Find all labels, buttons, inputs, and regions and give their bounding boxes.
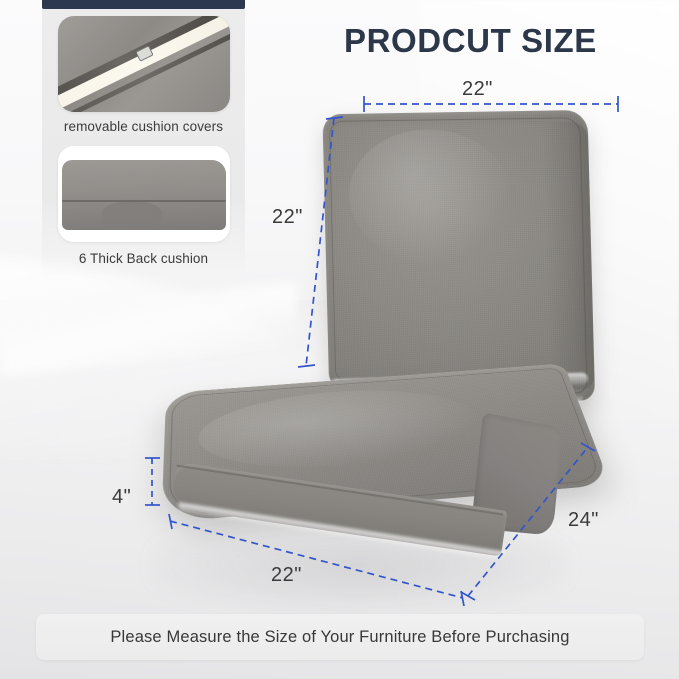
thumbnail-caption-thick-back-cushion: 6 Thick Back cushion [42,251,245,266]
back-cushion [322,110,595,402]
product-size-infographic: 22" 22" 4" 22" 24" PRODCUT SIZE removabl… [0,0,679,679]
dimension-label-back-height: 22" [272,206,303,229]
dimension-label-seat-thickness: 4" [112,486,131,509]
page-title: PRODCUT SIZE [344,22,644,60]
back-cushion-shadow-edge [543,122,595,390]
dimension-label-back-width: 22" [462,78,493,101]
panel-top-accent-bar [42,0,245,9]
dimension-label-seat-depth: 24" [568,509,599,532]
measure-notice-banner: Please Measure the Size of Your Furnitur… [36,614,644,660]
dimension-label-seat-width: 22" [271,564,302,587]
thumbnail-thick-back-cushion[interactable] [58,146,230,242]
back-cushion-tuck-shadow [102,202,162,230]
thumbnail-removable-covers[interactable] [58,16,230,112]
feature-thumbnail-panel: removable cushion covers 6 Thick Back cu… [42,0,245,278]
thumbnail-caption-removable-covers: removable cushion covers [42,119,245,134]
measure-notice-text: Please Measure the Size of Your Furnitur… [110,628,569,647]
